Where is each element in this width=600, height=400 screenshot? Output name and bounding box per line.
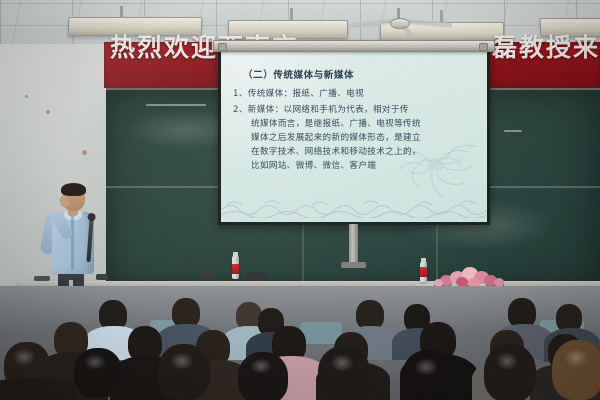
hair-highlight (170, 352, 194, 370)
slide-line-1: 1、传统媒体：报纸、广播、电视 (233, 87, 364, 99)
projection-screen: （二）传统媒体与新媒体 1、传统媒体：报纸、广播、电视 2、新媒体：以网络和手机… (218, 48, 490, 225)
wall-mark (25, 95, 28, 98)
bottle-label (232, 264, 239, 274)
lamp-hanger (290, 8, 293, 20)
audience-shoulders (0, 378, 76, 400)
bottle-cap (421, 258, 426, 263)
screen-support-foot (341, 262, 366, 268)
device-item (96, 274, 108, 280)
hair-highlight (250, 358, 272, 374)
bottle-label (420, 267, 427, 277)
audience (0, 286, 600, 400)
wall-mark (82, 150, 87, 155)
lecturer-hair (61, 183, 86, 196)
water-bottle-icon (232, 256, 239, 279)
hair-highlight (414, 358, 438, 376)
hair-highlight (84, 354, 106, 370)
slide-line-3: 统媒体而言，是继报纸、广播、电视等传统 (251, 117, 421, 129)
hair-highlight (330, 354, 354, 372)
hair-highlight (564, 348, 588, 368)
slide-line-2: 2、新媒体：以网络和手机为代表，相对于传 (233, 103, 409, 115)
lecturer-shirt-placket (71, 216, 74, 270)
chalk-mark (504, 130, 522, 132)
water-bottle-icon (420, 262, 427, 282)
wall-mark (46, 110, 50, 114)
screen-case-knob (479, 43, 488, 51)
slide-content: （二）传统媒体与新媒体 1、传统媒体：报纸、广播、电视 2、新媒体：以网络和手机… (221, 51, 487, 222)
slide-line-5: 在数字技术、网络技术和移动技术之上的， (251, 145, 421, 157)
hair-highlight (12, 348, 36, 366)
projector-screen-case (213, 40, 495, 52)
bottle-cap (233, 252, 238, 257)
slide-line-6: 比如网站、微博、微信、客户端 (251, 159, 376, 171)
chalk-mark (146, 104, 206, 106)
equipment-item (246, 272, 268, 281)
slide-title: （二）传统媒体与新媒体 (243, 67, 354, 81)
hair-highlight (496, 352, 518, 370)
lecture-hall-photo: 热烈欢迎西南交 磊教授来校讲学 (0, 0, 600, 400)
microphone-base (200, 272, 214, 279)
banner-text-right: 磊教授来校讲学 (492, 28, 600, 64)
lamp-hanger (120, 6, 123, 18)
slide-line-4: 媒体之后发展起来的新的媒体形态，是建立 (251, 131, 421, 143)
screen-support-pole (349, 224, 358, 266)
notebook-item (34, 276, 50, 281)
screen-case-knob (218, 43, 227, 51)
ceiling-fan-hub (390, 18, 410, 29)
lamp-hanger (440, 10, 443, 22)
